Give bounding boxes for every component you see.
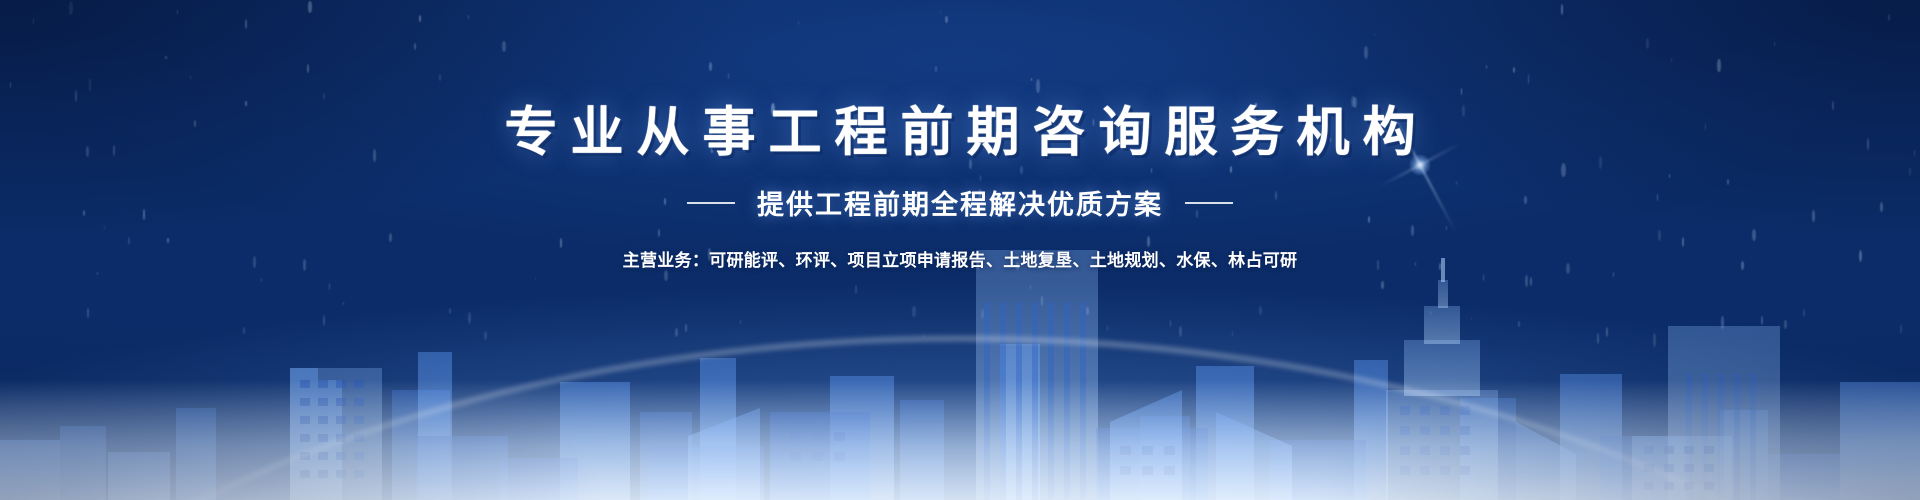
business-scope-text: 主营业务：可研能评、环评、项目立项申请报告、土地复垦、土地规划、水保、林占可研: [0, 246, 1920, 271]
hero-banner: 专业从事工程前期咨询服务机构 提供工程前期全程解决优质方案 主营业务：可研能评、…: [0, 0, 1920, 500]
page-subtitle: 提供工程前期全程解决优质方案: [757, 183, 1163, 222]
banner-copy: 专业从事工程前期咨询服务机构 提供工程前期全程解决优质方案 主营业务：可研能评、…: [0, 104, 1920, 271]
page-title: 专业从事工程前期咨询服务机构: [0, 104, 1920, 161]
subtitle-row: 提供工程前期全程解决优质方案: [0, 183, 1920, 222]
left-rule-decoration: [687, 202, 735, 204]
right-rule-decoration: [1185, 202, 1233, 204]
